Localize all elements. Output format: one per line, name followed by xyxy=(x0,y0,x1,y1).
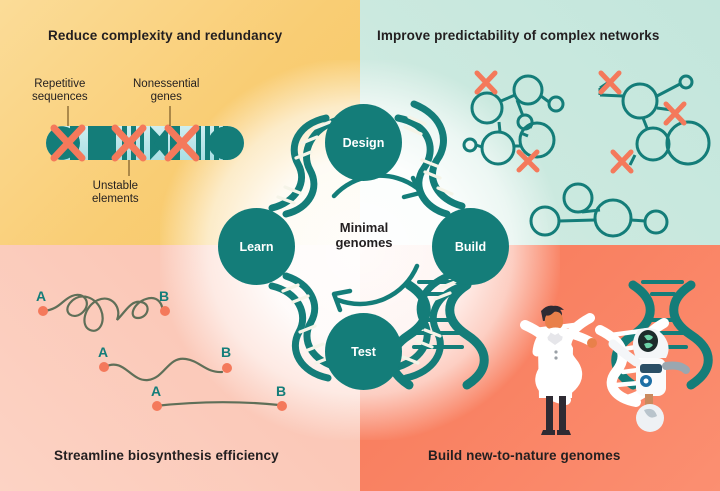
panel-title-bottom-right: Build new-to-nature genomes xyxy=(428,448,620,463)
panel-title-top-right: Improve predictability of complex networ… xyxy=(377,28,660,43)
pathway3-label-a: A xyxy=(151,383,161,399)
annotation-repetitive-sequences: Repetitive sequences xyxy=(32,78,88,104)
panel-title-top-left: Reduce complexity and redundancy xyxy=(48,28,282,43)
center-caption-line1: Minimal xyxy=(303,220,425,235)
cycle-node-learn-label: Learn xyxy=(218,240,295,254)
cycle-node-design[interactable]: Design xyxy=(325,104,402,181)
cycle-node-build[interactable]: Build xyxy=(432,208,509,285)
cycle-node-design-label: Design xyxy=(325,136,402,150)
panel-title-bottom-left: Streamline biosynthesis efficiency xyxy=(54,448,279,463)
pathway2-label-a: A xyxy=(98,344,108,360)
pathway1-label-b: B xyxy=(159,288,169,304)
cycle-node-build-label: Build xyxy=(432,240,509,254)
cycle-node-test[interactable]: Test xyxy=(325,313,402,390)
pathway2-label-b: B xyxy=(221,344,231,360)
cycle-node-test-label: Test xyxy=(325,345,402,359)
pathway3-label-b: B xyxy=(276,383,286,399)
center-caption-line2: genomes xyxy=(303,235,425,250)
cycle-node-learn[interactable]: Learn xyxy=(218,208,295,285)
annotation-nonessential-genes: Nonessential genes xyxy=(133,78,199,104)
annotation-unstable-elements: Unstable elements xyxy=(92,180,139,206)
pathway1-label-a: A xyxy=(36,288,46,304)
figure-canvas: Reduce complexity and redundancy Improve… xyxy=(0,0,720,491)
center-caption: Minimal genomes xyxy=(303,220,425,250)
